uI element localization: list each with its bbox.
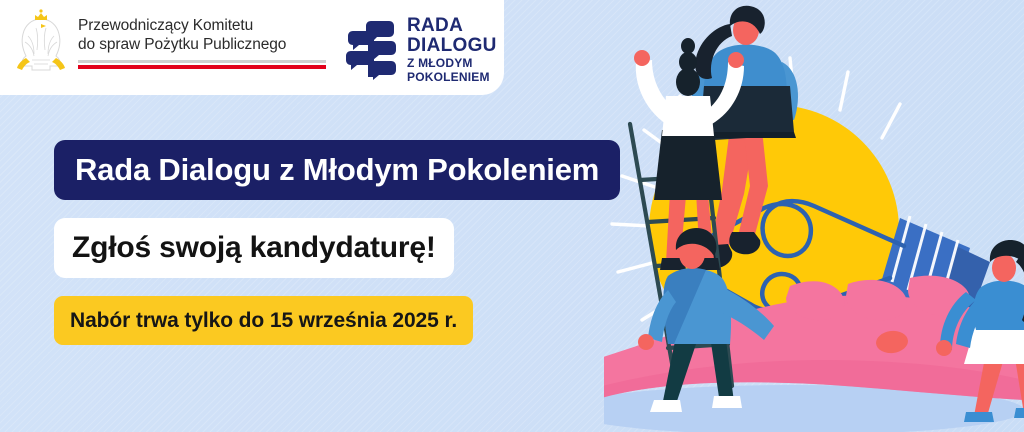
red-rule xyxy=(78,65,326,69)
logo-line-z-mlodym: Z MŁODYM xyxy=(407,57,497,71)
ministry-lockup: Przewodniczący Komitetu do spraw Pożytku… xyxy=(12,8,326,82)
flag-rules xyxy=(78,60,326,69)
title-row: Rada Dialogu z Młodym Pokoleniem xyxy=(54,140,620,200)
ministry-line-1: Przewodniczący Komitetu xyxy=(78,16,326,35)
promo-banner: Przewodniczący Komitetu do spraw Pożytku… xyxy=(0,0,1024,432)
rada-dialogu-logo: RADA DIALOGU Z MŁODYM POKOLENIEM xyxy=(345,16,497,84)
polish-eagle-emblem-icon xyxy=(12,8,70,82)
lightbulb-teamwork-illustration xyxy=(604,0,1024,432)
logo-line-rada: RADA xyxy=(407,16,497,36)
logo-line-dialogu: DIALOGU xyxy=(407,36,497,56)
speech-bubble-plant-mark-icon xyxy=(345,19,397,81)
message-bars: Rada Dialogu z Młodym Pokoleniem Zgłoś s… xyxy=(54,140,620,345)
title-bar: Rada Dialogu z Młodym Pokoleniem xyxy=(54,140,620,200)
rada-dialogu-wordmark: RADA DIALOGU Z MŁODYM POKOLENIEM xyxy=(407,16,497,84)
ministry-line-2: do spraw Pożytku Publicznego xyxy=(78,35,326,54)
deadline-row: Nabór trwa tylko do 15 września 2025 r. xyxy=(54,278,620,345)
ministry-text-block: Przewodniczący Komitetu do spraw Pożytku… xyxy=(78,8,326,69)
deadline-bar: Nabór trwa tylko do 15 września 2025 r. xyxy=(54,296,473,345)
header-card: Przewodniczący Komitetu do spraw Pożytku… xyxy=(0,0,504,95)
logo-line-pokoleniem: POKOLENIEM xyxy=(407,71,497,85)
cta-bar: Zgłoś swoją kandydaturę! xyxy=(54,218,454,278)
cta-row: Zgłoś swoją kandydaturę! xyxy=(54,200,620,278)
grey-rule xyxy=(78,60,326,63)
